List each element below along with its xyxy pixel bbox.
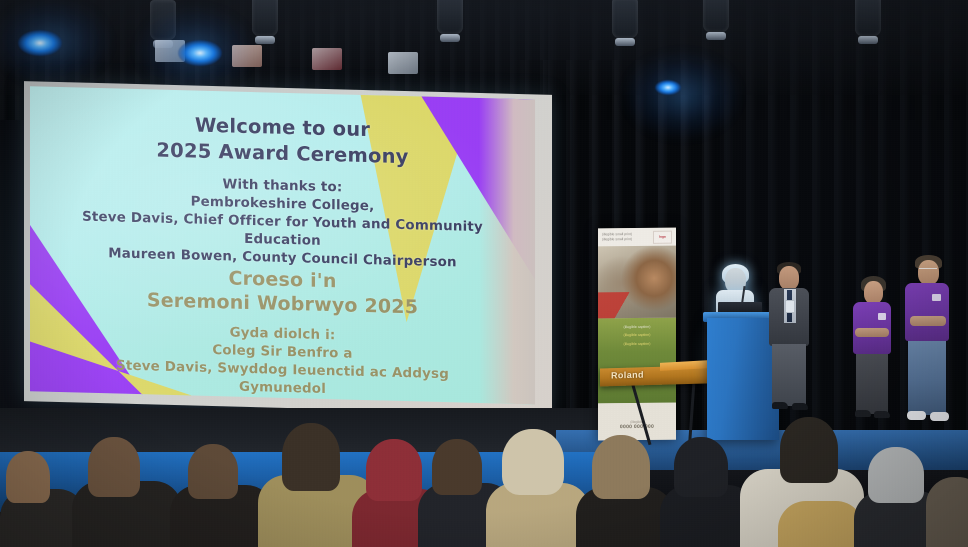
audience-member (502, 429, 564, 495)
audience-member (674, 437, 728, 497)
banner-footer: (illegible) 0000 000 000 (598, 403, 676, 441)
lanyard-badge-icon (785, 300, 795, 313)
volunteer-2-shoe (907, 411, 926, 420)
blue-spotlight-icon (655, 80, 681, 95)
blue-spotlight-icon (18, 30, 62, 56)
banner-footer-number: 0000 000 000 (620, 424, 654, 430)
keyboard-brand-label: Roland (611, 370, 644, 381)
audience-member (188, 444, 238, 499)
banner-header: (illegible small print) (illegible small… (598, 228, 676, 247)
audience-member (592, 435, 650, 499)
volunteer-2-shoe (930, 412, 949, 421)
audience-member (780, 417, 838, 483)
volunteer-1-shoe (855, 410, 871, 417)
audience-member (868, 447, 924, 503)
gobo-plate (388, 52, 418, 74)
volunteer-2-clasped-hands (910, 316, 946, 326)
audience-member (778, 501, 864, 547)
official-trousers (772, 344, 806, 406)
volunteer-1-shoe (874, 411, 890, 418)
slide-text-block: Welcome to our 2025 Award Ceremony With … (30, 86, 535, 404)
official-head (779, 266, 799, 290)
volunteer-1-folded-arms (855, 328, 889, 337)
gobo-plate (232, 45, 262, 67)
screen-light-wash (479, 98, 535, 404)
stage-lamp-icon (612, 0, 638, 46)
volunteer-1-trousers (856, 352, 888, 414)
polo-logo-icon (932, 294, 941, 301)
banner-caption-panel: (illegible caption) (illegible caption) … (598, 318, 676, 404)
roll-up-banner: (illegible small print) (illegible small… (598, 228, 676, 441)
blue-spotlight-icon (178, 40, 222, 66)
audience-member (88, 437, 140, 497)
banner-green-line1: (illegible caption) (604, 325, 670, 331)
audience-member (6, 451, 50, 503)
banner-green-line2: (illegible caption) (604, 333, 670, 339)
stage-photograph: Welcome to our 2025 Award Ceremony With … (0, 0, 968, 547)
audience-member (366, 439, 422, 501)
glasses-icon (919, 268, 937, 273)
official-shoe (772, 402, 788, 409)
volunteer-1-head (864, 281, 883, 304)
audience-member (432, 439, 482, 495)
official-shoe (792, 403, 808, 410)
banner-green-line3: (illegible caption) (604, 341, 670, 347)
stage-lamp-icon (252, 0, 278, 44)
gobo-plate (312, 48, 342, 70)
lighting-truss (0, 0, 968, 95)
audience-member (282, 423, 340, 491)
stage-lamp-icon (855, 0, 881, 44)
banner-photo (598, 246, 676, 319)
audience-member (926, 477, 968, 547)
volunteer-2-jeans (908, 339, 946, 415)
presentation-slide: Welcome to our 2025 Award Ceremony With … (30, 86, 535, 404)
banner-logo-text: logo (659, 235, 666, 239)
banner-logo-icon: logo (653, 230, 672, 243)
projection-screen: Welcome to our 2025 Award Ceremony With … (24, 81, 552, 415)
volunteer-2-polo-shirt (905, 283, 949, 341)
stage-lamp-icon (437, 0, 463, 42)
stage-lamp-icon (703, 0, 729, 40)
banner-header-line2: (illegible small print) (602, 237, 632, 242)
polo-logo-icon (878, 313, 886, 320)
